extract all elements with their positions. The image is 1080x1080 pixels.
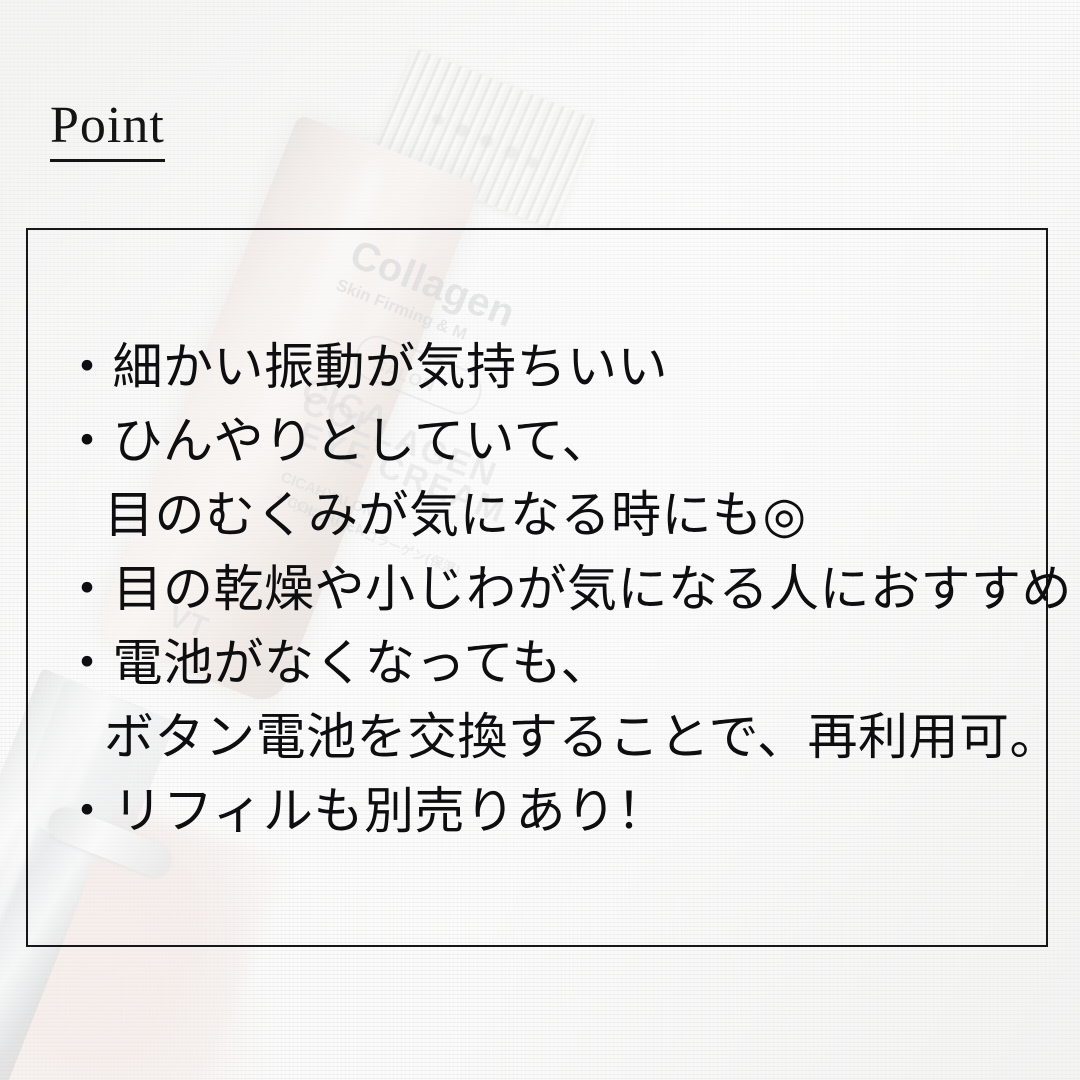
bullet-list: ・細かい振動が気持ちいい ・ひんやりとしていて、 目のむくみが気になる時にも◎ … bbox=[62, 330, 1052, 848]
list-item: ・電池がなくなっても、 bbox=[62, 626, 1052, 700]
page-title: Point bbox=[50, 100, 165, 162]
list-item: ・目の乾燥や小じわが気になる人におすすめ！ bbox=[62, 552, 1052, 626]
list-item: ボタン電池を交換することで、再利用可。 bbox=[62, 700, 1052, 774]
list-item: ・細かい振動が気持ちいい bbox=[62, 330, 1052, 404]
text-overlay: Point ・細かい振動が気持ちいい ・ひんやりとしていて、 目のむくみが気にな… bbox=[0, 0, 1080, 1080]
page-title-wrapper: Point bbox=[50, 100, 165, 162]
list-item: ・ひんやりとしていて、 bbox=[62, 404, 1052, 478]
list-item: 目のむくみが気になる時にも◎ bbox=[62, 478, 1052, 552]
list-item: ・リフィルも別売りあり！ bbox=[62, 774, 1052, 848]
